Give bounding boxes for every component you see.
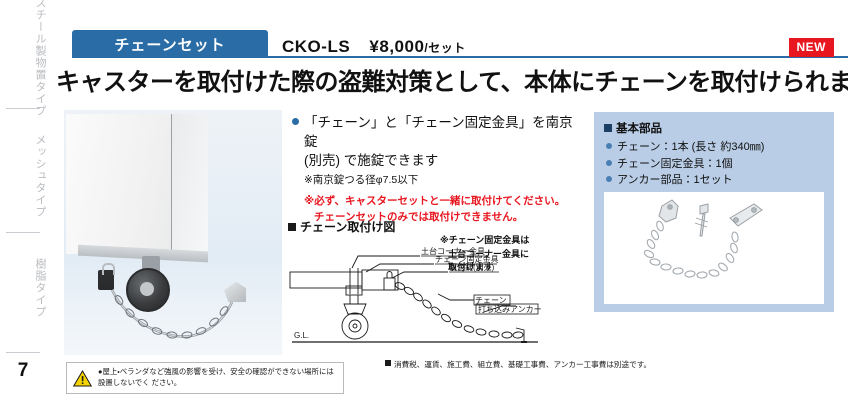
side-tab-mesh-label: メッシュタイプ	[32, 134, 46, 218]
parts-list-item: チェーン：1本 (長さ 約340㎜)	[606, 139, 824, 156]
parts-list-item: アンカー部品：1セット	[606, 172, 824, 189]
model-code: CKO-LS	[282, 37, 350, 56]
parts-photo	[604, 192, 824, 304]
installation-diagram: チェーン取付け図 ※チェーン固定金具は 土台コーナー金具に 取付けます	[288, 218, 588, 358]
parts-item-label: チェーン固定金具：1個	[617, 156, 733, 173]
square-bullet-icon	[385, 360, 391, 366]
parts-list-item: チェーン固定金具：1個	[606, 156, 824, 173]
safety-warning-line2: ださい。	[152, 378, 182, 387]
page-number: 7	[0, 360, 46, 382]
side-divider-3	[6, 352, 40, 353]
parts-photo-illustration	[604, 192, 824, 304]
safety-warning-text: ●屋上・ベランダなど強風の影響を受け、安全の確認ができない場所には設置しないでく…	[98, 367, 337, 388]
category-tab-label: チェーンセット	[114, 34, 225, 55]
parts-list-title: 基本部品	[604, 120, 824, 136]
square-bullet-icon	[604, 124, 612, 132]
safety-warning-line1: ●屋上・ベランダなど強風の影響を受け、安全の確認ができない場所には設置しないでく	[98, 367, 334, 387]
diagram-drawing: 土台コーナー金具 チェーン固定金具 南京錠(別売) チェーン 打ち込みアンカー …	[288, 234, 588, 358]
tax-note: 消費税、運賃、施工費、組立費、基礎工事費、アンカー工事費は別途です。	[385, 359, 651, 370]
side-divider-2	[6, 232, 40, 233]
diagram-title-label: チェーン取付け図	[300, 218, 395, 235]
square-bullet-icon	[288, 223, 296, 231]
parts-list-box: 基本部品 チェーン：1本 (長さ 約340㎜) チェーン固定金具：1個 アンカー…	[594, 112, 834, 312]
parts-item-label: チェーン：1本 (長さ 約340㎜)	[617, 139, 764, 156]
feature-warning-line1: ※必ず、キャスターセットと一緒に取付けてください。	[304, 195, 565, 207]
category-tab[interactable]: チェーンセット	[72, 30, 268, 58]
feature-text-line2: (別売) で施錠できます	[304, 151, 584, 170]
price-unit: /セット	[424, 41, 465, 55]
bullet-dot-icon	[606, 176, 612, 182]
side-tab-resin-label: 樹脂タイプ	[32, 258, 46, 318]
side-tab-steel[interactable]: スチール製物置タイプ	[0, 14, 46, 100]
bullet-dot-icon	[606, 143, 612, 149]
tax-note-text: 消費税、運賃、施工費、組立費、基礎工事費、アンカー工事費は別途です。	[394, 359, 651, 370]
side-tab-steel-label: スチール製物置タイプ	[32, 0, 46, 117]
feature-bullet: 「チェーン」と「チェーン固定金具」を南京錠	[292, 113, 584, 151]
page-title: キャスターを取付けた際の盗難対策として、本体にチェーンを取付けられます	[56, 62, 846, 97]
diagram-label-ground: G.L.	[294, 331, 309, 340]
product-photo	[64, 110, 282, 355]
bullet-dot-icon	[292, 118, 299, 125]
feature-note: ※南京錠つる径φ7.5以下	[304, 172, 584, 187]
side-tab-resin[interactable]: 樹脂タイプ	[0, 248, 46, 328]
parts-list-title-label: 基本部品	[616, 120, 662, 136]
warning-triangle-icon	[73, 370, 92, 387]
parts-item-label: アンカー部品：1セット	[617, 172, 733, 189]
bullet-dot-icon	[606, 160, 612, 166]
feature-list: 「チェーン」と「チェーン固定金具」を南京錠 (別売) で施錠できます ※南京錠つ…	[292, 113, 584, 225]
diagram-label-anchor: 打ち込みアンカー	[478, 304, 542, 314]
side-divider-1	[6, 108, 40, 109]
side-tab-mesh[interactable]: メッシュタイプ	[0, 128, 46, 224]
model-price-line: CKO-LS ¥8,000/セット	[282, 37, 466, 57]
safety-warning-box: ●屋上・ベランダなど強風の影響を受け、安全の確認ができない場所には設置しないでく…	[66, 362, 344, 394]
diagram-label-padlock: 南京錠(別売)	[449, 262, 495, 272]
side-index: スチール製物置タイプ メッシュタイプ 樹脂タイプ 7	[0, 0, 46, 406]
price-value: ¥8,000	[369, 37, 424, 56]
diagram-title: チェーン取付け図	[288, 218, 588, 235]
catalog-page: スチール製物置タイプ メッシュタイプ 樹脂タイプ 7 チェーンセット CKO-L…	[0, 0, 848, 406]
new-badge: NEW	[789, 38, 835, 57]
feature-text-line1: 「チェーン」と「チェーン固定金具」を南京錠	[304, 113, 584, 151]
chain-illustration	[64, 110, 282, 355]
